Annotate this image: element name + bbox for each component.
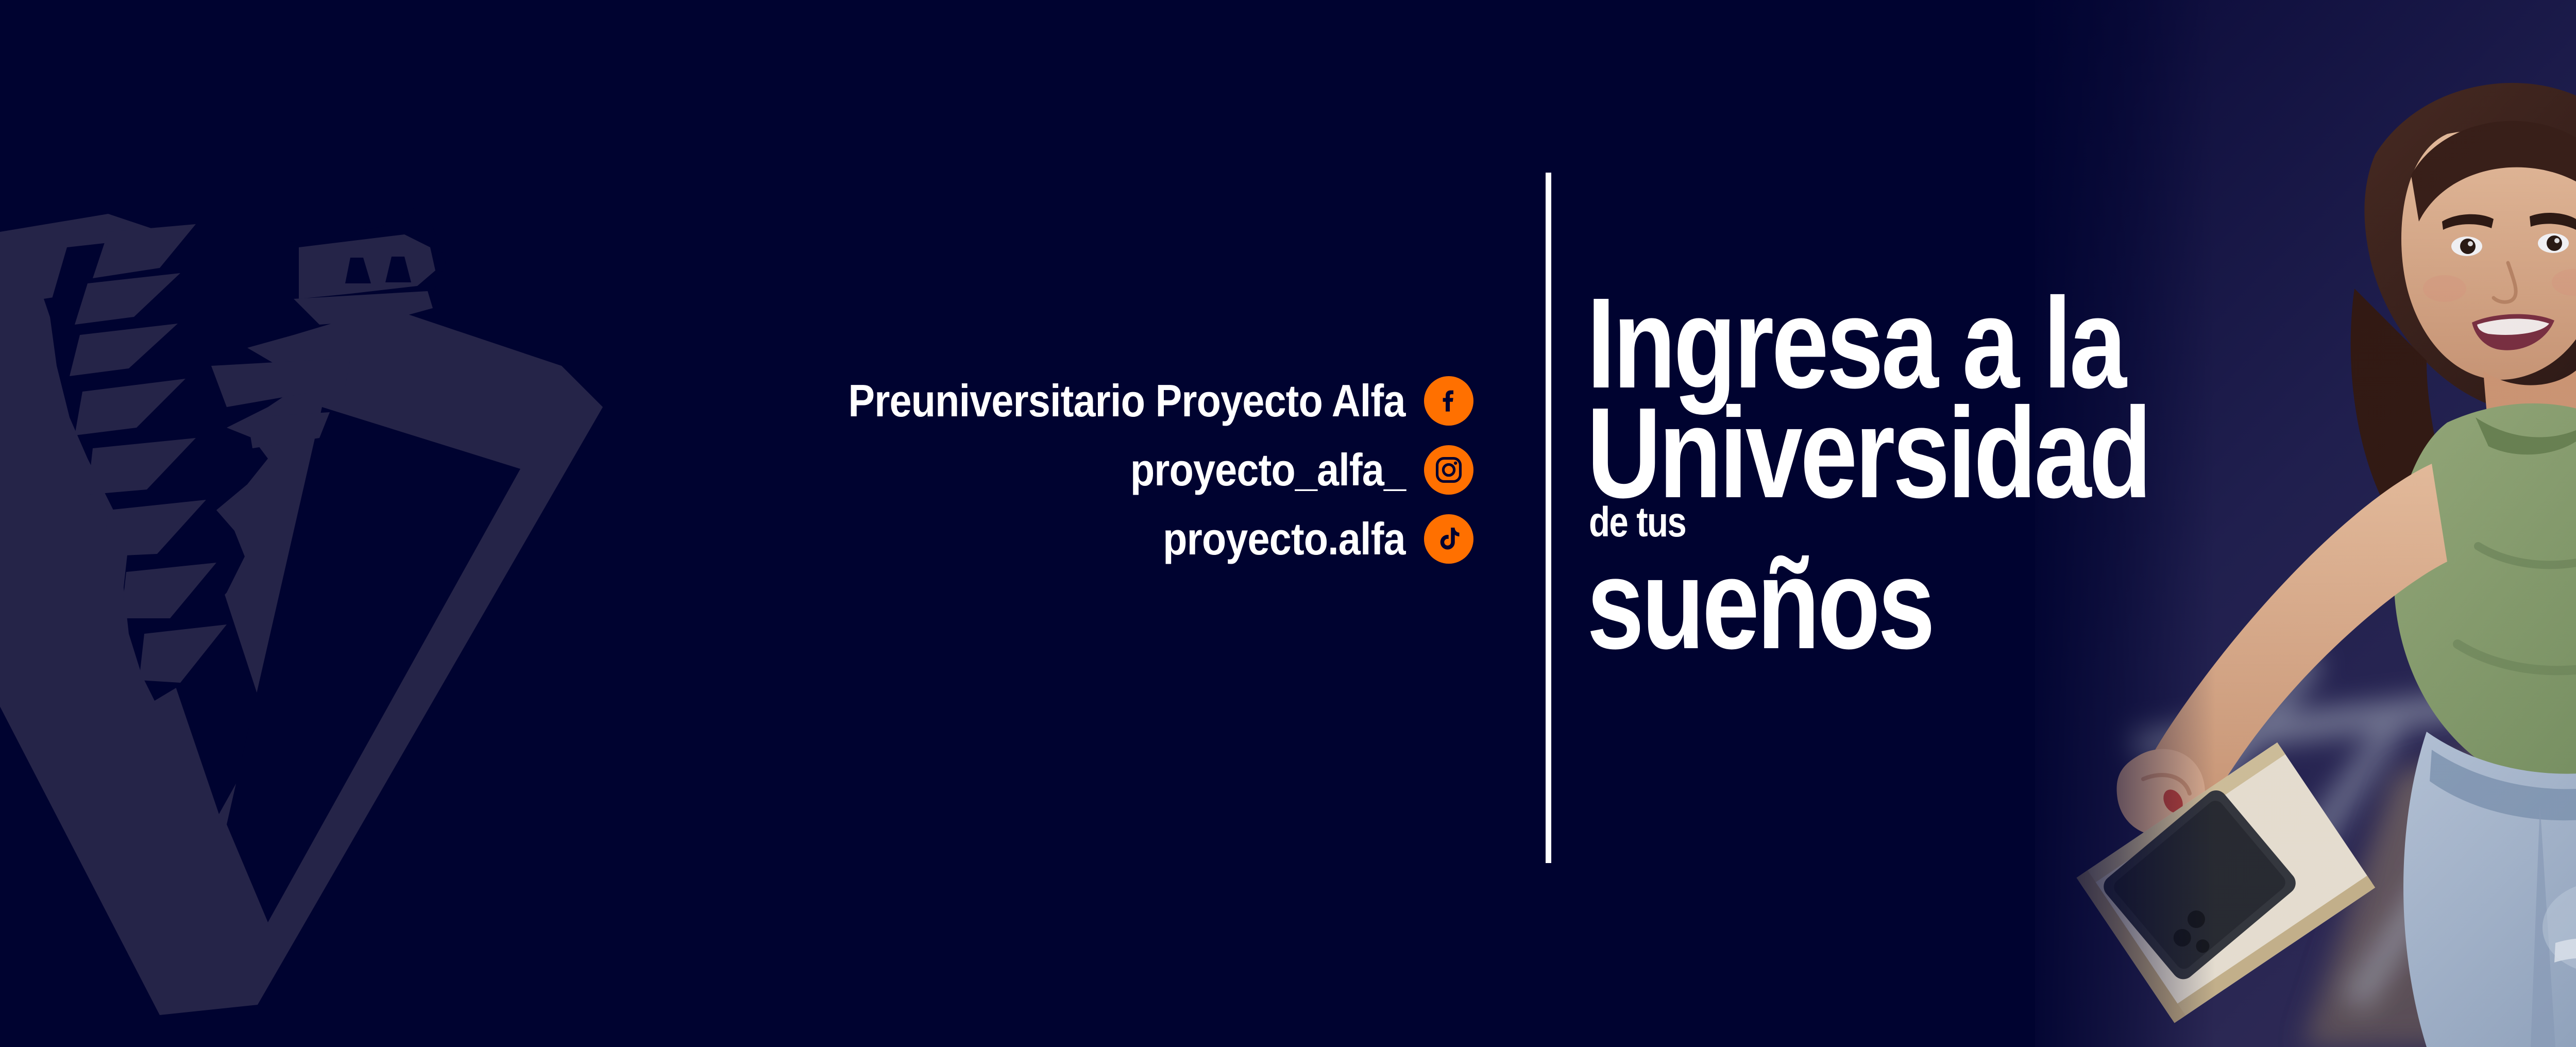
headline-block: Ingresa a la Universidad de tus sueños [1587, 289, 2290, 656]
social-row-facebook[interactable]: Preuniversitario Proyecto Alfa [772, 376, 1473, 426]
tiktok-icon[interactable] [1424, 514, 1473, 564]
facebook-icon[interactable] [1424, 376, 1473, 426]
facebook-handle-label: Preuniversitario Proyecto Alfa [849, 378, 1405, 424]
social-row-tiktok[interactable]: proyecto.alfa [1130, 514, 1473, 564]
social-contact-list: Preuniversitario Proyecto Alfa proyecto_… [0, 376, 1473, 564]
instagram-icon[interactable] [1424, 445, 1473, 495]
social-row-instagram[interactable]: proyecto_alfa_ [1093, 445, 1473, 495]
headline-line-3: sueños [1587, 551, 2149, 656]
tiktok-handle-label: proyecto.alfa [1163, 516, 1405, 562]
headline-line-2: Universidad [1587, 398, 2149, 508]
promo-banner: Preuniversitario Proyecto Alfa proyecto_… [0, 0, 2576, 1047]
instagram-handle-label: proyecto_alfa_ [1130, 447, 1405, 493]
vertical-divider [1546, 173, 1551, 863]
